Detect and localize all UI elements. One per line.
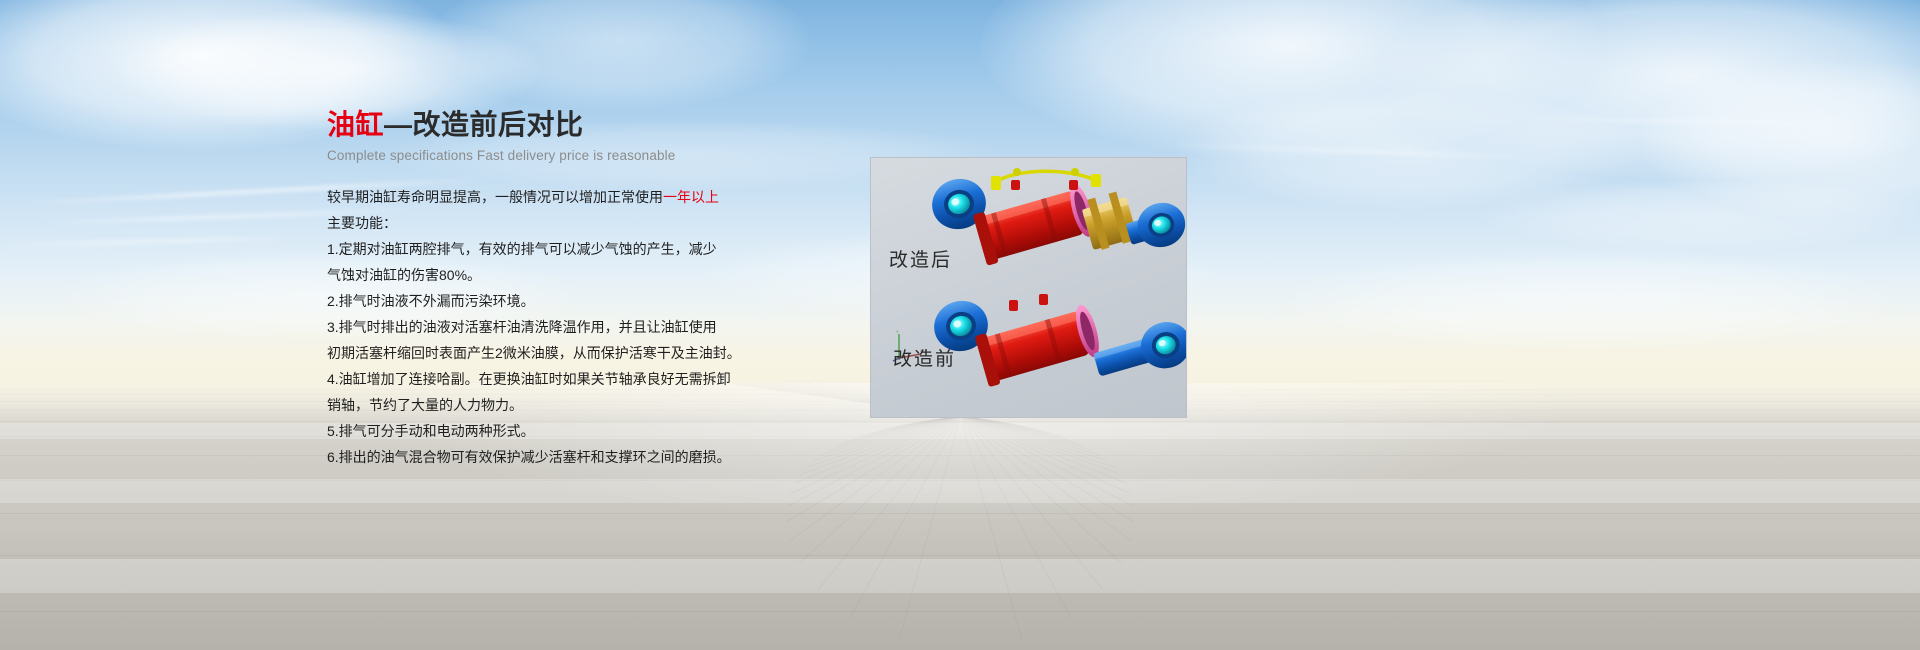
feature-line: 2.排气时油液不外漏而污染环境。 [327,288,847,314]
cloud-decoration [1640,60,1920,220]
cad-comparison-panel: Y X 改造后 改造前 [870,157,1187,418]
feature-line: 1.定期对油缸两腔排气，有效的排气可以减少气蚀的产生，减少 [327,236,847,262]
cloud-streak [0,236,300,247]
page-title-highlight: 油缸 [327,109,384,140]
feature-line: 初期活塞杆缩回时表面产生2微米油膜，从而保护活寒干及主油封。 [327,340,847,366]
feature-list: 1.定期对油缸两腔排气，有效的排气可以减少气蚀的产生，减少气蚀对油缸的伤害80%… [327,236,847,470]
cloud-decoration [430,0,810,110]
cloud-streak [1150,143,1570,161]
promo-banner: 油缸—改造前后对比 Complete specifications Fast d… [0,0,1920,650]
cad-label-before: 改造前 [893,344,956,371]
feature-line: 气蚀对油缸的伤害80%。 [327,262,847,288]
features-heading: 主要功能： [327,210,847,236]
cloud-decoration [1280,250,1900,350]
page-subtitle: Complete specifications Fast delivery pr… [327,148,847,163]
cylinder-before-modification-render [899,276,1187,404]
cloud-streak [1500,117,1880,127]
intro-text: 较早期油缸寿命明显提高，一般情况可以增加正常使用 [327,189,663,205]
feature-line: 4.油缸增加了连接哈副。在更换油缸时如果关节轴承良好无需拆卸 [327,366,847,392]
feature-description: 较早期油缸寿命明显提高，一般情况可以增加正常使用一年以上 主要功能： 1.定期对… [327,184,847,470]
page-title: 油缸—改造前后对比 [327,108,847,142]
cad-label-after: 改造后 [889,245,952,272]
intro-highlight: 一年以上 [663,189,719,205]
banner-text-column: 油缸—改造前后对比 Complete specifications Fast d… [327,108,847,470]
feature-line: 3.排气时排出的油液对活塞杆油清洗降温作用，并且让油缸使用 [327,314,847,340]
feature-line: 销轴，节约了大量的人力物力。 [327,392,847,418]
feature-line: 5.排气可分手动和电动两种形式。 [327,418,847,444]
cloud-decoration [1180,90,1640,210]
svg-text:Y: Y [896,329,899,334]
page-title-rest: —改造前后对比 [384,109,584,140]
cloud-decoration [980,0,1600,160]
floor-sheen [0,383,1920,650]
ground-plaza-background [0,383,1920,650]
intro-line: 较早期油缸寿命明显提高，一般情况可以增加正常使用一年以上 [327,184,847,210]
cloud-decoration [1480,180,1920,250]
feature-line: 6.排出的油气混合物可有效保护减少活塞杆和支撑环之间的磨损。 [327,444,847,470]
